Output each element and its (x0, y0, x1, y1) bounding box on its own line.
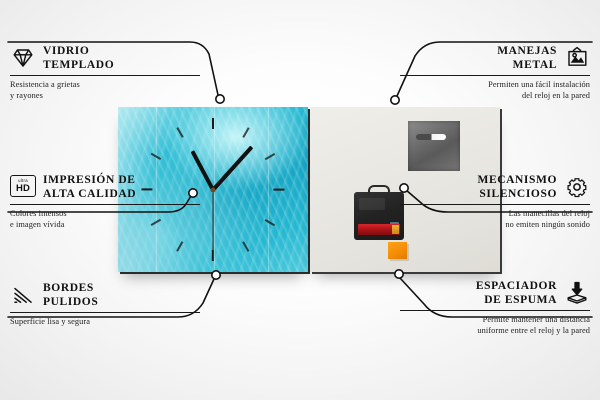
face-seam (268, 107, 269, 272)
clock-movement (354, 192, 404, 240)
feature-desc-line2: no emiten ningún sonido (400, 219, 590, 230)
connector-dot (216, 95, 224, 103)
second-hand (212, 189, 213, 251)
clock-hub (211, 187, 216, 192)
feature-description: Superficie lisa y segura (10, 316, 200, 327)
feature-vidrio-templado: VIDRIO TEMPLADO Resistencia a grietas y … (10, 44, 200, 101)
feature-title-line2: PULIDOS (43, 295, 98, 309)
movement-hook (368, 185, 390, 195)
feature-title: IMPRESIÓN DE ALTA CALIDAD (43, 173, 136, 201)
feature-title: BORDES PULIDOS (43, 281, 98, 309)
polished-edges-icon (10, 283, 36, 307)
feature-divider (10, 204, 200, 205)
feature-title-line2: DE ESPUMA (476, 293, 557, 307)
hour-tick (176, 241, 183, 251)
connector-dot (391, 96, 399, 104)
feature-desc-line2: del reloj en la pared (400, 90, 590, 101)
feature-desc-line1: Permite mantener una distancia (400, 314, 590, 325)
battery-terminal (392, 225, 399, 234)
feature-header: VIDRIO TEMPLADO (10, 44, 200, 72)
battery (358, 224, 400, 235)
hour-tick (212, 118, 214, 129)
hour-tick (265, 219, 275, 226)
feature-bordes-pulidos: BORDES PULIDOS Superficie lisa y segura (10, 281, 200, 327)
feature-divider (400, 75, 590, 76)
feature-divider (10, 312, 200, 313)
feature-desc-line1: Superficie lisa y segura (10, 316, 200, 327)
feature-title: ESPACIADOR DE ESPUMA (476, 279, 557, 307)
movement-panel (359, 198, 385, 210)
feature-title: MANEJAS METAL (497, 44, 557, 72)
feature-desc-line1: Colores intensos (10, 208, 200, 219)
feature-desc-line1: Permiten una fácil instalación (400, 79, 590, 90)
feature-description: Permiten una fácil instalación del reloj… (400, 79, 590, 101)
gear-icon (564, 175, 590, 199)
feature-header: BORDES PULIDOS (10, 281, 200, 309)
hanger-plate (408, 121, 460, 171)
feature-impresion-alta-calidad: ultra HD IMPRESIÓN DE ALTA CALIDAD Color… (10, 173, 200, 230)
feature-title-line1: ESPACIADOR (476, 280, 557, 292)
feature-desc-line2: uniforme entre el reloj y la pared (400, 325, 590, 336)
feature-divider (400, 310, 590, 311)
feature-title-line1: MECANISMO (477, 174, 557, 186)
feature-description: Permite mantener una distancia uniforme … (400, 314, 590, 336)
feature-description: Resistencia a grietas y rayones (10, 79, 200, 101)
hour-tick (212, 250, 214, 261)
feature-divider (400, 204, 590, 205)
feature-divider (10, 75, 200, 76)
hour-tick (265, 153, 275, 160)
hour-tick (242, 241, 249, 251)
feature-title: VIDRIO TEMPLADO (43, 44, 114, 72)
feature-header: ultra HD IMPRESIÓN DE ALTA CALIDAD (10, 173, 200, 201)
hour-tick (176, 127, 183, 137)
hour-tick (273, 189, 284, 191)
feature-description: Las manecillas del reloj no emiten ningú… (400, 208, 590, 230)
feature-mecanismo-silencioso: MECANISMO SILENCIOSO Las manecillas del … (400, 173, 590, 230)
feature-title-line2: ALTA CALIDAD (43, 187, 136, 201)
feature-description: Colores intensos e imagen vívida (10, 208, 200, 230)
hd-label: HD (16, 184, 30, 194)
hour-tick (242, 127, 249, 137)
ultra-hd-icon: ultra HD (10, 175, 36, 199)
feature-title-line1: BORDES (43, 282, 94, 294)
feature-espaciador-espuma: ESPACIADOR DE ESPUMA Permite mantener un… (400, 279, 590, 336)
feature-title-line2: METAL (497, 58, 557, 72)
feature-title-line1: VIDRIO (43, 45, 89, 57)
feature-header: ESPACIADOR DE ESPUMA (400, 279, 590, 307)
product-infographic: VIDRIO TEMPLADO Resistencia a grietas y … (0, 0, 600, 400)
connector-dot (212, 271, 220, 279)
feature-header: MANEJAS METAL (400, 44, 590, 72)
feature-title-line1: IMPRESIÓN DE (43, 174, 136, 186)
diamond-icon (10, 46, 36, 70)
feature-desc-line1: Las manecillas del reloj (400, 208, 590, 219)
feature-desc-line2: y rayones (10, 90, 200, 101)
feature-desc-line1: Resistencia a grietas (10, 79, 200, 90)
feature-title-line2: TEMPLADO (43, 58, 114, 72)
framed-picture-hanging-icon (564, 46, 590, 70)
feature-header: MECANISMO SILENCIOSO (400, 173, 590, 201)
feature-title: MECANISMO SILENCIOSO (477, 173, 557, 201)
feature-desc-line2: e imagen vívida (10, 219, 200, 230)
foam-spacer (388, 242, 407, 259)
feature-manejas-metal: MANEJAS METAL Permiten una fácil instala… (400, 44, 590, 101)
arrow-onto-pad-icon (564, 281, 590, 305)
minute-hand (212, 145, 254, 191)
feature-title-line2: SILENCIOSO (477, 187, 557, 201)
feature-title-line1: MANEJAS (497, 45, 557, 57)
hanger-slot (416, 134, 446, 140)
